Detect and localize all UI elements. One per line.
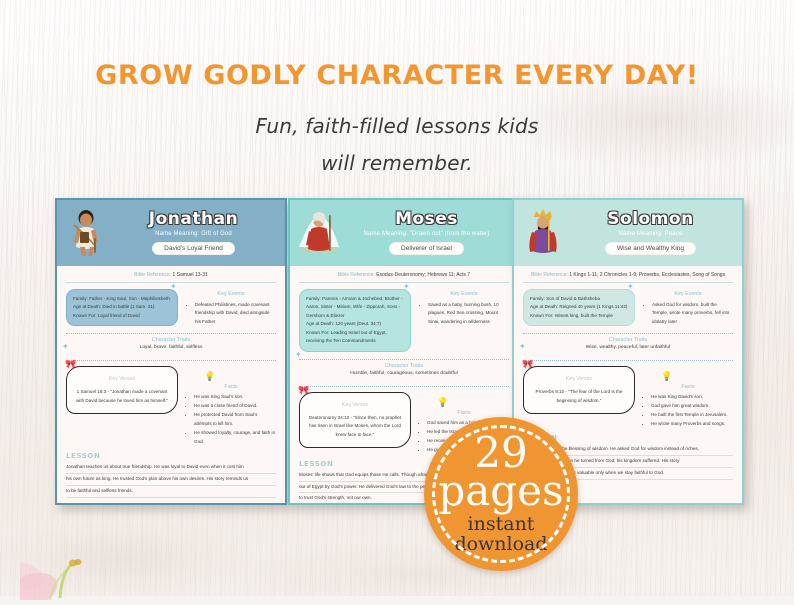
key-verse-title: Key Verses [531,375,627,385]
family-info-box: Family: Son of David & Bathsheba Age at … [523,289,635,326]
family-line: Age at Death: Died in battle (1 Sam. 31) [73,303,171,311]
facts-title: Facts [186,384,276,390]
key-events-item: Asked God for wisdom, built the Temple, … [652,301,733,326]
key-events-list: Defeated Philistines, made covenant frie… [186,301,276,326]
key-verse-box: Key Verses 1 Samuel 18:3 - "Jonathan mad… [66,366,178,414]
character-traits-title: Character Traits [299,363,509,369]
key-events-title: Key Events [186,291,276,297]
key-events-title: Key Events [419,291,509,297]
lesson-label: LESSON [66,452,276,460]
character-subtitle: David's Loyal Friend [152,242,235,255]
sparkle-icon: ✦ [295,351,302,359]
verse-and-facts-row: 🎀 Key Verses 1 Samuel 18:3 - "Jonathan m… [66,366,276,447]
facts-list: He was King Saul's son. He was a close f… [186,393,276,447]
character-traits-block: Character Traits Humble, faithful, coura… [299,360,509,379]
character-traits-value: Humble, faithful, courageous, sometimes … [299,371,509,376]
family-line: Known For: Loyal friend of David [73,312,171,320]
subheadline-line-1: Fun, faith-filled lessons kids [0,114,794,138]
family-line: Known For: Wisest king, built the Temple [530,312,628,320]
sparkle-icon: ✦ [519,343,526,351]
character-name: Solomon [565,211,736,229]
name-meaning: Name Meaning: Peace [565,231,736,237]
key-events-block: Key Events Asked God for wisdom, built t… [643,289,733,326]
bible-reference-value: 1 Samuel 13-31 [173,272,208,278]
facts-list: He was King David's son. God gave him gr… [643,393,733,429]
bible-reference-label: Bible Reference: [531,272,568,278]
family-line: Family: Parents - Amram & Jochebed, Brot… [306,295,404,320]
facts-item: He protected David from Saul's attempts … [194,411,276,429]
badge-word: pages [438,471,563,511]
character-subtitle: Wise and Wealthy King [605,242,696,255]
lesson-line: his own future as king. He trusted God's… [66,474,276,486]
worksheet-card-jonathan[interactable]: Jonathan Name Meaning: Gift of God David… [55,198,287,505]
moses-staff-icon [297,207,341,259]
ribbon-icon: 🎀 [298,386,309,395]
boy-with-bow-icon [64,207,108,259]
key-verse-block: 🎀 Key Verses 1 Samuel 18:3 - "Jonathan m… [66,366,178,447]
verse-and-facts-row: 🎀 Key Verses Proverbs 9:10 - "The fear o… [523,366,733,429]
key-events-block: Key Events Saved as a baby, burning bush… [419,289,509,352]
key-events-list: Asked God for wisdom, built the Temple, … [643,301,733,326]
divider [523,360,733,361]
sparkle-icon: ✦ [403,283,410,291]
key-verse-box: Key Verses Deuteronomy 34:10 - "Since th… [299,392,411,448]
key-events-item: Defeated Philistines, made covenant frie… [195,301,276,326]
badge-number: 29 [474,433,527,473]
facts-item: He showed loyalty, courage, and faith in… [194,429,276,447]
family-line: Age at Death: Reigned 40 years (1 Kings … [530,303,628,311]
page-headline: GROW GODLY CHARACTER EVERY DAY! [0,60,794,91]
family-line: Family: Father - King Saul, Son - Mephib… [73,295,171,303]
card-header: Moses Name Meaning: "Drawn out" (from th… [290,200,518,266]
lesson-text: Jonathan teaches us about true friendshi… [66,462,276,497]
ribbon-icon: 🎀 [65,360,76,369]
lightbulb-icon: 💡 [661,371,672,381]
card-header: Jonathan Name Meaning: Gift of God David… [57,200,285,266]
character-traits-value: Wise, wealthy, peaceful, later unfaithfu… [523,345,733,350]
facts-block: 💡 Facts He was King Saul's son. He was a… [186,366,276,447]
family-and-events-row: ✦ ✦ Family: Parents - Amram & Jochebed, … [299,289,509,352]
lesson-line: to be faithful and selfless friends. [66,486,276,498]
bible-reference-label: Bible Reference: [134,272,171,278]
card-header-text: Moses Name Meaning: "Drawn out" (from th… [341,211,518,256]
sparkle-icon: ✦ [170,283,177,291]
family-info-box: Family: Father - King Saul, Son - Mephib… [66,289,178,326]
family-line: Known For: Leading Israel out of Egypt, … [306,329,404,346]
flower-decoration [20,520,140,600]
key-events-item: Saved as a baby, burning bush, 10 plague… [428,301,509,326]
facts-item: He built the first Temple in Jerusalem. [651,411,733,420]
facts-title: Facts [643,384,733,390]
key-verse-title: Key Verses [307,401,403,411]
lightbulb-icon: 💡 [437,397,448,407]
facts-item: God gave him great wisdom. [651,402,733,411]
facts-item: He was King David's son. [651,393,733,402]
family-line: Family: Son of David & Bathsheba [530,295,628,303]
badge-line-2: download [454,535,547,555]
key-verse-box: Key Verses Proverbs 9:10 - "The fear of … [523,366,635,414]
character-traits-value: Loyal, brave, faithful, selfless [66,345,276,350]
character-name: Jonathan [108,211,279,229]
card-body: Bible Reference: 1 Samuel 13-31 ✦ ✦ Fami… [57,266,285,499]
character-traits-block: Character Traits Wise, wealthy, peaceful… [523,334,733,353]
badge-line-1: instant [468,515,535,535]
key-verse-block: 🎀 Key Verses Deuteronomy 34:10 - "Since … [299,392,411,455]
family-and-events-row: ✦ ✦ Family: Father - King Saul, Son - Me… [66,289,276,326]
character-traits-block: Character Traits Loyal, brave, faithful,… [66,334,276,353]
key-verse-text: Proverbs 9:10 - "The fear of the Lord is… [531,388,627,405]
card-header-text: Jonathan Name Meaning: Gift of God David… [108,211,285,256]
facts-item: He wrote many Proverbs and songs. [651,420,733,429]
bible-reference-value: 1 Kings 1-11; 2 Chronicles 1-9; Proverbs… [569,272,725,278]
character-subtitle: Deliverer of Israel [389,242,464,255]
pages-badge: 29 pages instant download [424,417,578,571]
character-traits-title: Character Traits [523,337,733,343]
divider [299,386,509,387]
character-name: Moses [341,211,512,229]
sparkle-icon: ✦ [62,343,69,351]
key-events-block: Key Events Defeated Philistines, made co… [186,289,276,326]
facts-item: He was King Saul's son. [194,393,276,402]
subheadline-line-2: will remember. [0,151,794,175]
key-events-title: Key Events [643,291,733,297]
lesson-line: Jonathan teaches us about true friendshi… [66,462,276,474]
divider [66,360,276,361]
sparkle-icon: ✦ [627,283,634,291]
facts-item: He was a close friend of David. [194,402,276,411]
bible-reference-value: Exodus-Deuteronomy; Hebrews 11; Acts 7 [376,272,470,278]
king-crown-icon [521,207,565,259]
key-verse-text: 1 Samuel 18:3 - "Jonathan made a covenan… [74,388,170,405]
lightbulb-icon: 💡 [204,371,215,381]
card-header: Solomon Name Meaning: Peace Wise and Wea… [514,200,742,266]
bible-reference-label: Bible Reference: [338,272,375,278]
facts-block: 💡 Facts He was King David's son. God gav… [643,366,733,429]
family-line: Age at Death: 120 years (Deut. 34:7) [306,320,404,328]
name-meaning: Name Meaning: "Drawn out" (from the wate… [341,231,512,237]
facts-title: Facts [419,410,509,416]
card-header-text: Solomon Name Meaning: Peace Wise and Wea… [565,211,742,256]
family-and-events-row: ✦ ✦ Family: Son of David & Bathsheba Age… [523,289,733,326]
key-verse-text: Deuteronomy 34:10 - "Since then, no prop… [307,414,403,439]
ribbon-icon: 🎀 [522,360,533,369]
name-meaning: Name Meaning: Gift of God [108,231,279,237]
key-verse-title: Key Verses [74,375,170,385]
key-events-list: Saved as a baby, burning bush, 10 plague… [419,301,509,326]
character-traits-title: Character Traits [66,337,276,343]
family-info-box: Family: Parents - Amram & Jochebed, Brot… [299,289,411,352]
key-verse-block: 🎀 Key Verses Proverbs 9:10 - "The fear o… [523,366,635,429]
